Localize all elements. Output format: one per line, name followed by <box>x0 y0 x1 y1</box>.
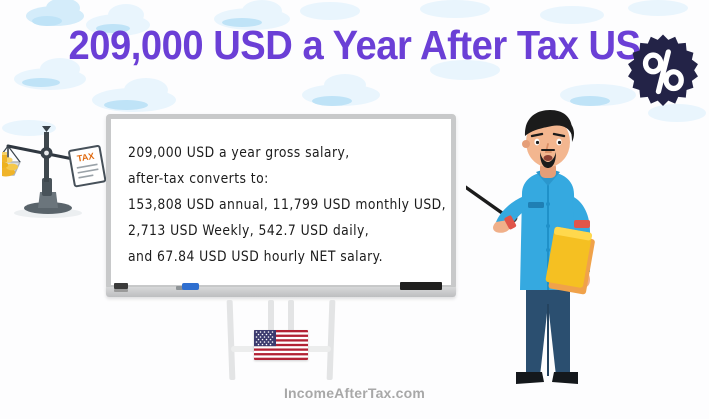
whiteboard: 209,000 USD a year gross salary, after-t… <box>106 114 456 297</box>
cloud-decoration <box>124 78 168 102</box>
cloud-decoration <box>420 0 490 18</box>
whiteboard-line: and 67.84 USD USD hourly NET salary. <box>128 242 448 271</box>
percent-badge-icon <box>625 33 701 109</box>
whiteboard-tray <box>106 287 456 297</box>
cloud-decoration <box>324 74 366 96</box>
black-marker <box>400 282 442 290</box>
cloud-decoration <box>570 96 610 106</box>
cloud-decoration <box>300 2 360 20</box>
cloud-decoration <box>312 96 352 106</box>
balance-scales-icon: TAX <box>2 112 108 222</box>
cloud-decoration <box>22 78 60 87</box>
whiteboard-stand <box>106 300 456 380</box>
whiteboard-line: 2,713 USD Weekly, 542.7 USD daily, <box>128 216 448 245</box>
cloud-decoration <box>104 100 148 110</box>
stand-leg-right <box>327 300 336 380</box>
whiteboard-line: 153,808 USD annual, 11,799 USD monthly U… <box>128 190 448 219</box>
whiteboard-eraser-base <box>114 289 128 292</box>
site-footer: IncomeAfterTax.com <box>0 385 709 401</box>
teacher-character <box>466 108 646 408</box>
page-title: 209,000 USD a Year After Tax US <box>25 22 684 69</box>
whiteboard-line: after-tax converts to: <box>128 164 448 193</box>
us-flag-icon <box>254 330 308 360</box>
whiteboard-frame: 209,000 USD a year gross salary, after-t… <box>106 114 456 290</box>
poster-stage: 209,000 USD a Year After Tax US <box>0 0 709 419</box>
whiteboard-line: 209,000 USD a year gross salary, <box>128 138 448 167</box>
cloud-decoration <box>628 0 688 16</box>
blue-marker <box>182 283 199 290</box>
stand-leg-left <box>227 300 236 380</box>
whiteboard-surface: 209,000 USD a year gross salary, after-t… <box>114 122 448 282</box>
